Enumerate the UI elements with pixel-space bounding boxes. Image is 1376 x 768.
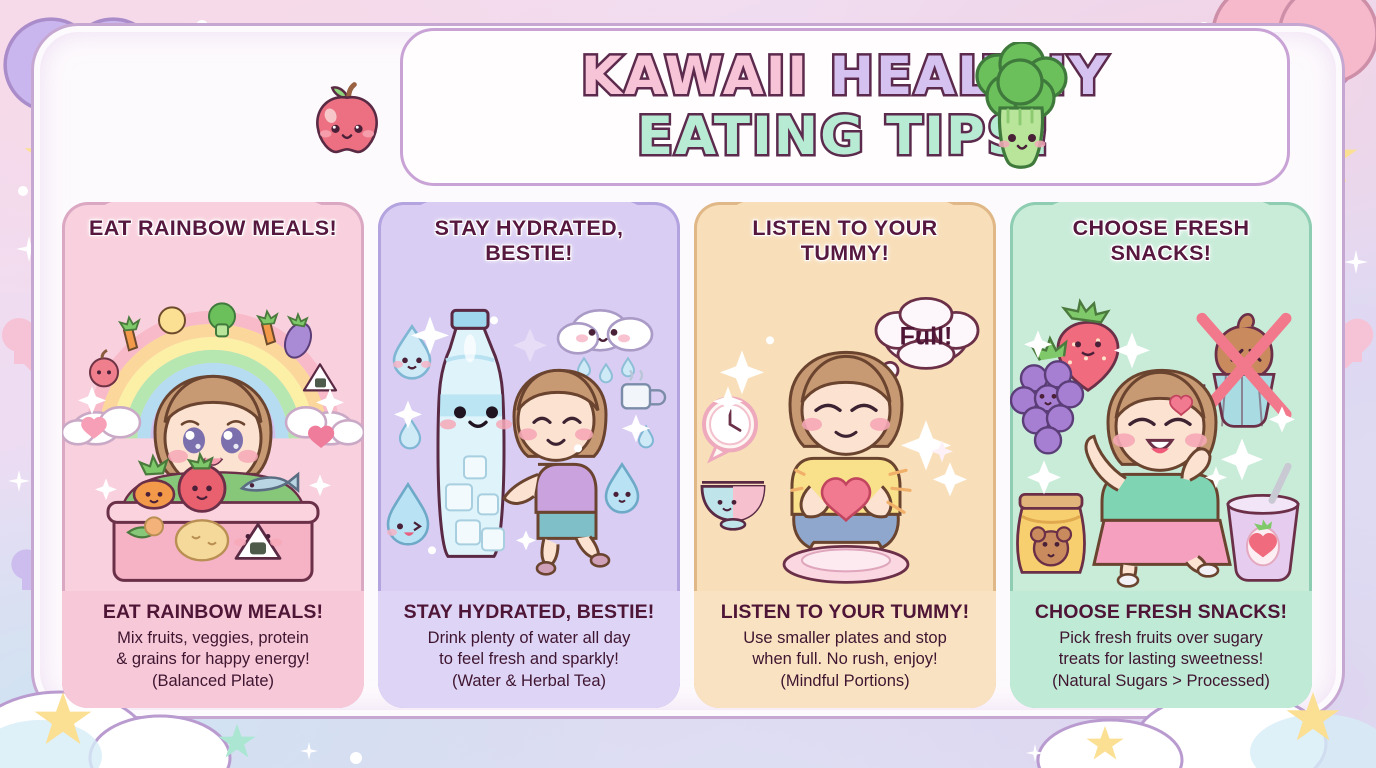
card2-header: STAY HYDRATED, BESTIE! [378, 202, 680, 286]
bg-dot-4 [18, 186, 28, 196]
yellow-star-bottom-center [1086, 726, 1124, 762]
card2-footer-line1: Drink plenty of water all day [390, 628, 668, 649]
broccoli-mascot-icon [960, 42, 1080, 177]
water-droplet-icon-2 [387, 484, 428, 544]
card2-footer-line2: to feel fresh and sparkly! [390, 649, 668, 670]
card4-footer-line2: treats for lasting sweetness! [1022, 649, 1300, 670]
mini-apple-icon [90, 350, 118, 386]
card2-footer-title: STAY HYDRATED, BESTIE! [390, 601, 668, 624]
card3-header-text: LISTEN TO YOUR TUMMY! [720, 216, 970, 266]
card4-footer: CHOOSE FRESH SNACKS! Pick fresh fruits o… [1010, 591, 1312, 708]
title-banner: KAWAII HEALTHY EATING TIPS! [400, 28, 1290, 186]
card2-illustration [378, 286, 680, 591]
card2-header-text: STAY HYDRATED, BESTIE! [404, 216, 654, 266]
card1-header: EAT RAINBOW MEALS! [62, 202, 364, 286]
water-droplet-icon-3 [606, 464, 638, 512]
card3-footer-line1: Use smaller plates and stop [706, 628, 984, 649]
honey-jar-icon [1018, 494, 1085, 572]
tip-card-listen-to-your-tummy[interactable]: LISTEN TO YOUR TUMMY! Full! [694, 202, 996, 708]
card1-footer-line3: (Balanced Plate) [74, 671, 352, 692]
title-word-kawaii: KAWAII [581, 46, 809, 107]
bottom-dot [350, 752, 362, 764]
tip-card-eat-rainbow-meals[interactable]: EAT RAINBOW MEALS! [62, 202, 364, 708]
mini-orange-icon [159, 307, 185, 333]
girl-meditating-icon [790, 352, 910, 560]
tip-card-stay-hydrated[interactable]: STAY HYDRATED, BESTIE! [378, 202, 680, 708]
card3-footer-title: LISTEN TO YOUR TUMMY! [706, 601, 984, 624]
white-sparkle-bg-5 [8, 470, 30, 492]
tips-card-row: EAT RAINBOW MEALS! [62, 202, 1316, 708]
card3-footer-line2: when full. No rush, enjoy! [706, 649, 984, 670]
card1-footer-title: EAT RAINBOW MEALS! [74, 601, 352, 624]
mindful-eating-scene: Full! [694, 286, 996, 591]
card1-illustration [62, 286, 364, 591]
white-sparkle-bottom-2 [1026, 744, 1044, 762]
bento-box-icon [108, 454, 318, 580]
card4-footer-line1: Pick fresh fruits over sugary [1022, 628, 1300, 649]
card3-illustration: Full! [694, 286, 996, 591]
hydration-scene [378, 286, 680, 591]
card4-footer-title: CHOOSE FRESH SNACKS! [1022, 601, 1300, 624]
apple-mascot-icon [305, 78, 389, 160]
card4-illustration [1010, 286, 1312, 591]
mint-star-bottom-left [218, 724, 256, 760]
water-bottle-icon [438, 310, 512, 556]
card4-footer-line3: (Natural Sugars > Processed) [1022, 671, 1300, 692]
thought-bubble-text: Full! [900, 322, 953, 350]
card2-footer: STAY HYDRATED, BESTIE! Drink plenty of w… [378, 591, 680, 708]
card1-footer-line2: & grains for happy energy! [74, 649, 352, 670]
plate-icon [784, 546, 908, 582]
card4-header: CHOOSE FRESH SNACKS! [1010, 202, 1312, 286]
card1-header-text: EAT RAINBOW MEALS! [89, 216, 337, 241]
card1-footer-line1: Mix fruits, veggies, protein [74, 628, 352, 649]
poster-canvas: KAWAII HEALTHY EATING TIPS! [0, 0, 1376, 768]
rainbow-bento-scene [62, 286, 364, 591]
white-sparkle-bg-4 [1344, 250, 1368, 274]
card4-header-text: CHOOSE FRESH SNACKS! [1036, 216, 1286, 266]
card3-footer: LISTEN TO YOUR TUMMY! Use smaller plates… [694, 591, 996, 708]
white-sparkle-bottom [300, 742, 318, 760]
card2-footer-line3: (Water & Herbal Tea) [390, 671, 668, 692]
card3-footer-line3: (Mindful Portions) [706, 671, 984, 692]
card1-footer: EAT RAINBOW MEALS! Mix fruits, veggies, … [62, 591, 364, 708]
mini-carrot-icon [120, 317, 139, 350]
girl-hugging-bottle-icon [504, 370, 609, 574]
yogurt-cup-icon [1228, 466, 1298, 580]
bowl-icon [702, 482, 764, 529]
tip-card-choose-fresh-snacks[interactable]: CHOOSE FRESH SNACKS! [1010, 202, 1312, 708]
fresh-snacks-scene [1010, 286, 1312, 591]
card3-header: LISTEN TO YOUR TUMMY! [694, 202, 996, 286]
